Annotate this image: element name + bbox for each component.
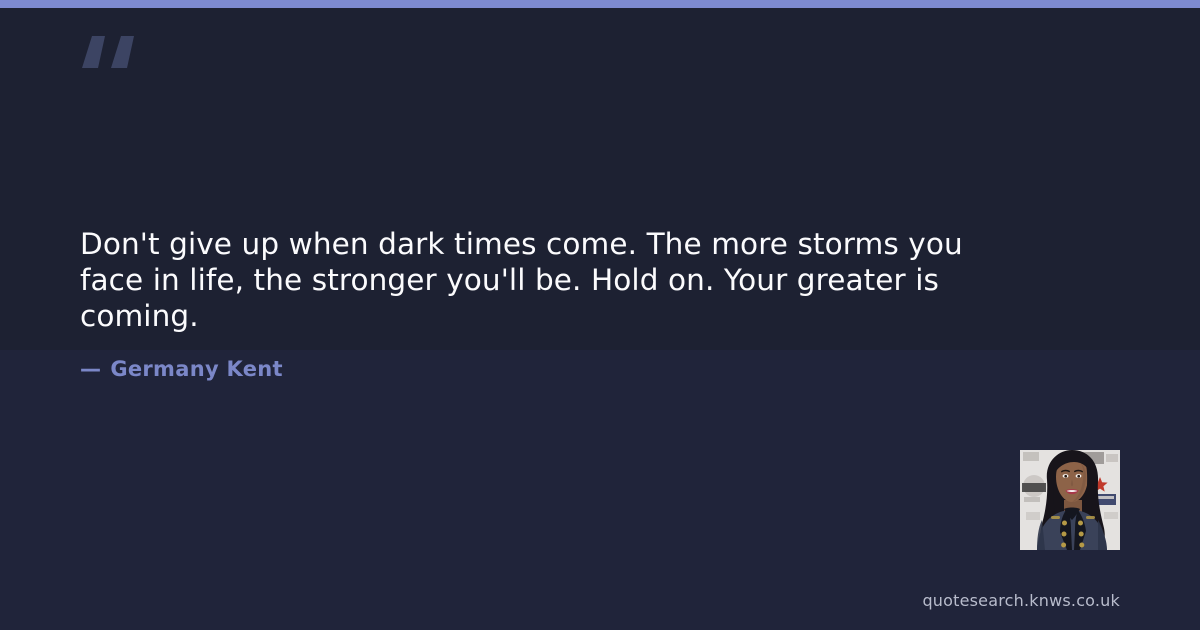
accent-top-bar <box>0 0 1200 8</box>
quote-card: Don't give up when dark times come. The … <box>0 0 1200 630</box>
author-photo[interactable] <box>1020 450 1120 550</box>
double-quote-open-icon <box>80 34 136 84</box>
quote-text: Don't give up when dark times come. The … <box>80 226 980 334</box>
author-name: Germany Kent <box>110 357 283 381</box>
quote-attribution: —Germany Kent <box>80 357 283 381</box>
attribution-dash: — <box>80 357 101 381</box>
source-url: quotesearch.knws.co.uk <box>922 591 1120 610</box>
